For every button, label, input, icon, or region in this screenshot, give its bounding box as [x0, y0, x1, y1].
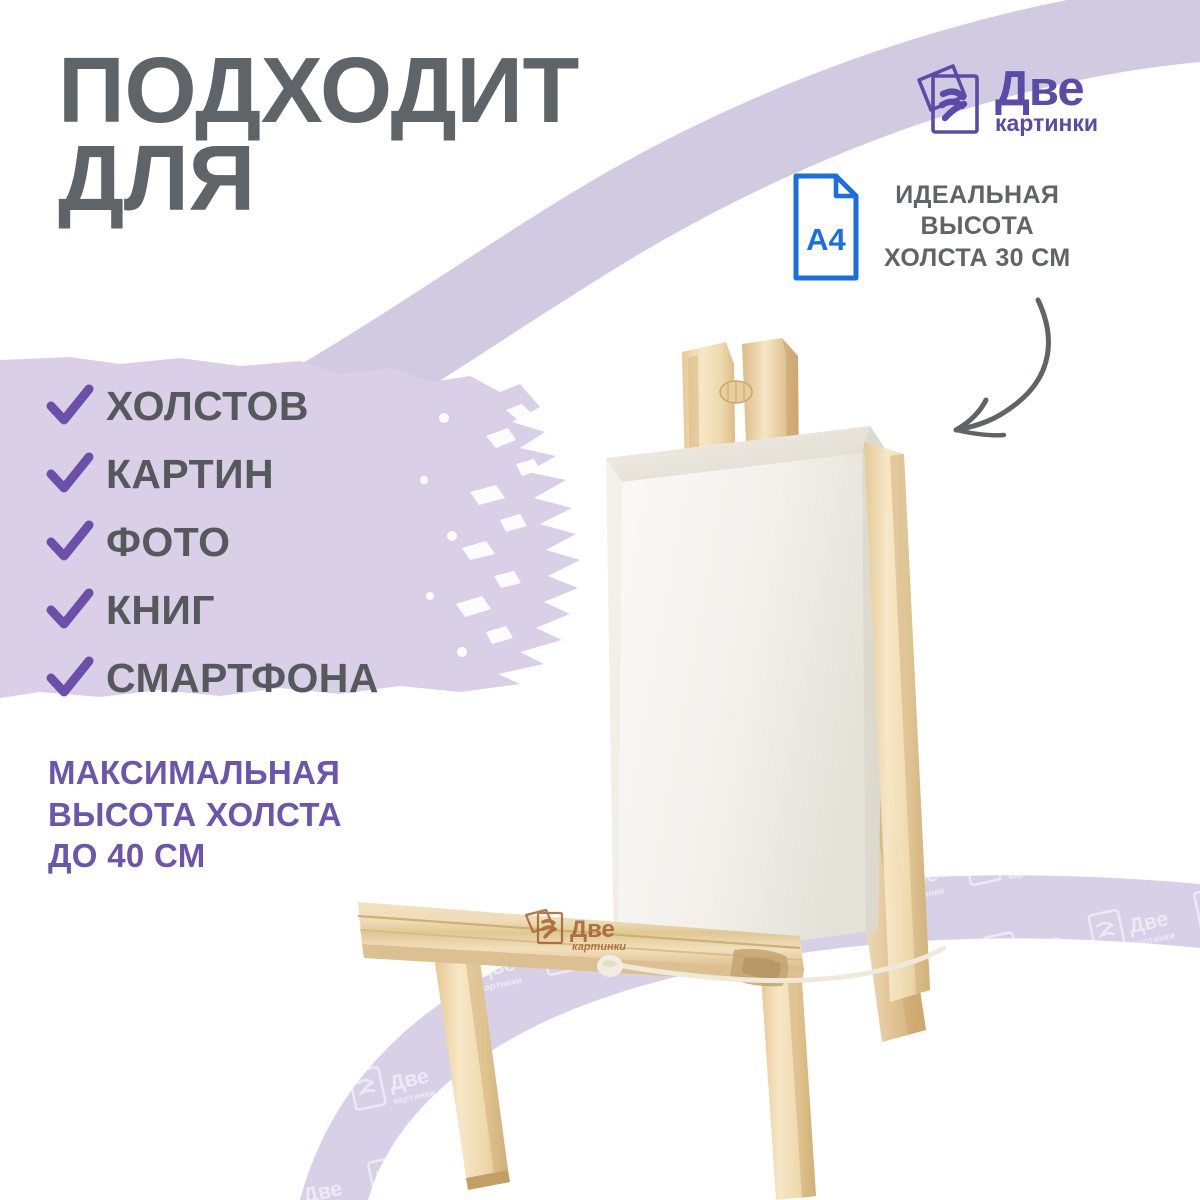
check-icon [46, 656, 94, 700]
check-icon [46, 384, 94, 428]
brand-logo: Две картинки [915, 52, 1130, 147]
list-item-label: КАРТИН [106, 451, 274, 498]
a4-page-icon: A4 [792, 172, 860, 282]
cord-knot [597, 955, 623, 977]
ledge-brand-sub: картинки [572, 941, 626, 953]
a4-badge: A4 ИДЕАЛЬНАЯ ВЫСОТА ХОЛСТА 30 СМ [792, 172, 1071, 282]
max-canvas-height-note: МАКСИМАЛЬНАЯ ВЫСОТА ХОЛСТА ДО 40 СМ [48, 752, 342, 877]
a4-badge-text: ИДЕАЛЬНАЯ ВЫСОТА ХОЛСТА 30 СМ [884, 180, 1071, 275]
list-item-label: СМАРТФОНА [106, 655, 379, 702]
list-item: ФОТО [46, 508, 379, 576]
check-icon [46, 452, 94, 496]
list-item: СМАРТФОНА [46, 644, 379, 712]
page-title: ПОДХОДИТ ДЛЯ [58, 46, 758, 223]
two-cards-brush-icon [915, 60, 985, 140]
list-item: ХОЛСТОВ [46, 372, 379, 440]
a4-icon-label: A4 [806, 222, 846, 257]
list-item: КНИГ [46, 576, 379, 644]
list-item-label: ХОЛСТОВ [106, 383, 309, 430]
product-easel-image: Две картинки [330, 330, 1010, 1200]
curved-arrow-down-left-icon [930, 292, 1115, 452]
easel-dowel-pin [720, 381, 752, 403]
suitable-for-list: ХОЛСТОВ КАРТИН ФОТО КНИГ СМАРТФОНА [46, 372, 379, 712]
list-item: КАРТИН [46, 440, 379, 508]
list-item-label: КНИГ [106, 587, 215, 634]
easel-right-lower-leg [760, 950, 816, 1200]
list-item-label: ФОТО [106, 519, 230, 566]
easel-left-front-leg [434, 946, 510, 1190]
check-icon [46, 588, 94, 632]
logo-word-sub: картинки [995, 112, 1098, 135]
blank-canvas [606, 426, 886, 966]
check-icon [46, 520, 94, 564]
infographic-canvas: Две картинки [0, 0, 1200, 1200]
logo-word-main: Две [995, 65, 1098, 114]
ledge-brand-main: Две [570, 916, 615, 943]
